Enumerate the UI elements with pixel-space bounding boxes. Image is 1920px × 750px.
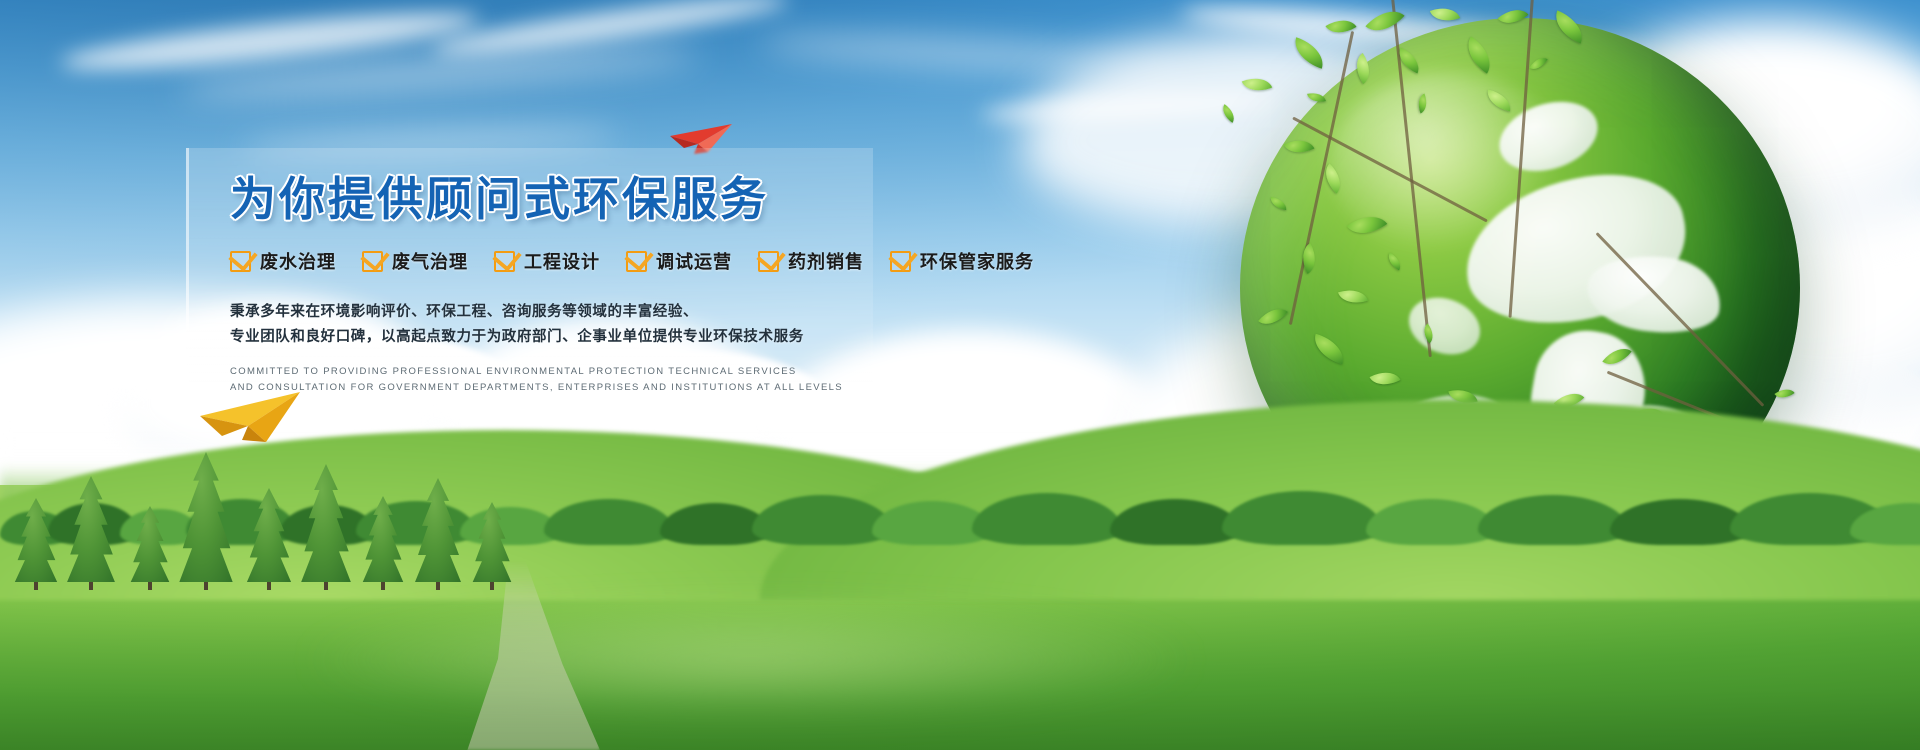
- english-caption-line: COMMITTED TO PROVIDING PROFESSIONAL ENVI…: [230, 364, 990, 380]
- description-line: 专业团队和良好口碑，以高起点致力于为政府部门、企事业单位提供专业环保技术服务: [230, 325, 990, 350]
- checkbox-checked-icon: [758, 251, 779, 272]
- description-block: 秉承多年来在环境影响评价、环保工程、咨询服务等领域的丰富经验、 专业团队和良好口…: [230, 300, 990, 350]
- feature-list: 废水治理 废气治理 工程设计 调试运营 药剂销售 环保管家服务: [230, 248, 990, 274]
- feature-item-steward-service[interactable]: 环保管家服务: [890, 248, 1034, 274]
- checkbox-checked-icon: [626, 251, 647, 272]
- english-caption-line: AND CONSULTATION FOR GOVERNMENT DEPARTME…: [230, 380, 990, 396]
- checkbox-checked-icon: [494, 251, 515, 272]
- feature-label: 废气治理: [392, 248, 468, 274]
- feature-item-wastewater[interactable]: 废水治理: [230, 248, 336, 274]
- grass-shadow: [0, 600, 1920, 750]
- english-caption-block: COMMITTED TO PROVIDING PROFESSIONAL ENVI…: [230, 364, 990, 396]
- foreground-trees: [0, 420, 560, 590]
- description-line: 秉承多年来在环境影响评价、环保工程、咨询服务等领域的丰富经验、: [230, 300, 990, 325]
- feature-item-commissioning-operation[interactable]: 调试运营: [626, 248, 732, 274]
- globe-highlight: [1330, 72, 1565, 256]
- banner-stage: 为你提供顾问式环保服务 废水治理 废气治理 工程设计 调试运营 药剂销售: [0, 0, 1920, 750]
- banner-content: 为你提供顾问式环保服务 废水治理 废气治理 工程设计 调试运营 药剂销售: [230, 176, 990, 396]
- feature-label: 工程设计: [524, 248, 600, 274]
- feature-label: 环保管家服务: [920, 248, 1034, 274]
- checkbox-checked-icon: [890, 251, 911, 272]
- checkbox-checked-icon: [230, 251, 251, 272]
- feature-item-engineering-design[interactable]: 工程设计: [494, 248, 600, 274]
- feature-item-chemical-sales[interactable]: 药剂销售: [758, 248, 864, 274]
- feature-label: 药剂销售: [788, 248, 864, 274]
- checkbox-checked-icon: [362, 251, 383, 272]
- feature-label: 废水治理: [260, 248, 336, 274]
- feature-item-waste-gas[interactable]: 废气治理: [362, 248, 468, 274]
- feature-label: 调试运营: [656, 248, 732, 274]
- page-title: 为你提供顾问式环保服务: [230, 176, 990, 222]
